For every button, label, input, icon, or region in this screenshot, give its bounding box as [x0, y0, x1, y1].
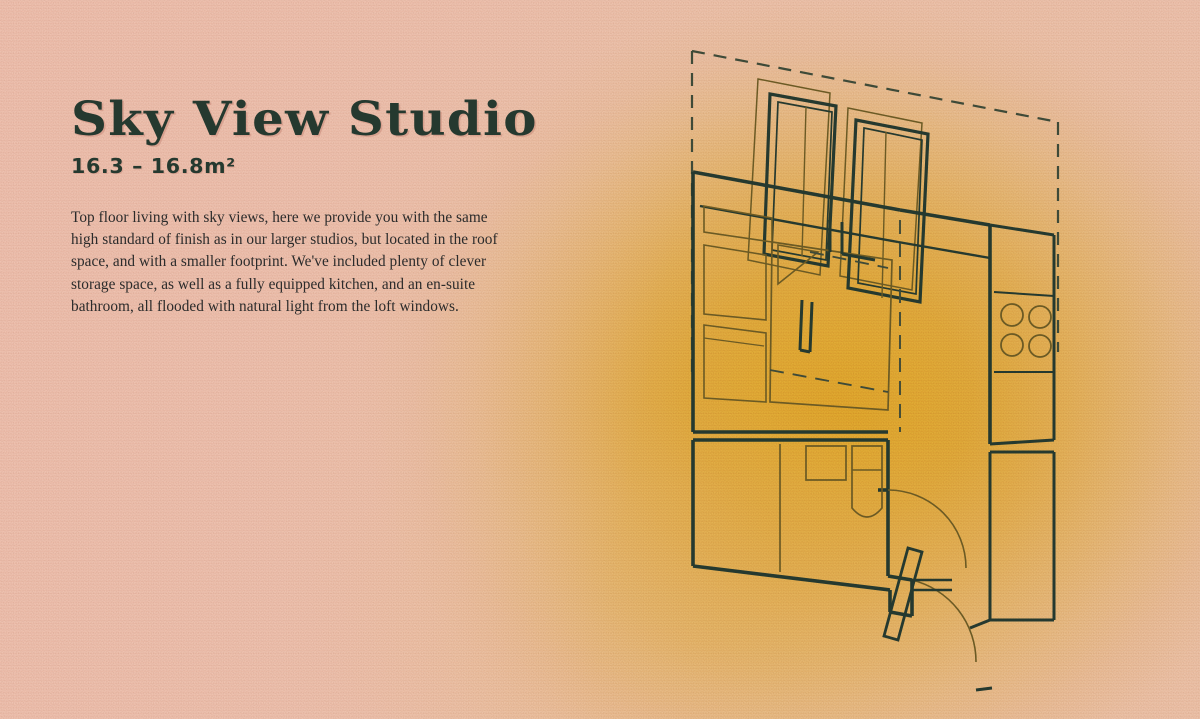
wardrobe-storage: [704, 206, 772, 242]
kitchen-run: [990, 225, 1054, 444]
studio-inner-wall-line: [700, 206, 990, 258]
loft-window-right: [840, 108, 928, 302]
kitchen-hob: [1001, 304, 1051, 357]
listing-info-panel: Sky View Studio 16.3 – 16.8m² Top floor …: [71, 96, 523, 318]
toilet: [806, 446, 882, 517]
entrance-door-swing: [912, 580, 976, 662]
listing-description: Top floor living with sky views, here we…: [71, 207, 505, 318]
floor-plan-drawing: [660, 20, 1090, 710]
bedside-unit-upper: [704, 245, 766, 320]
bed-side-fold: [810, 220, 900, 432]
studio-floor-plan: [660, 20, 1090, 710]
floor-area-label: 16.3 – 16.8m²: [71, 154, 537, 178]
scale-tick-mark: [976, 688, 992, 690]
bedside-unit-lower: [704, 325, 766, 402]
bed-duvet-fold: [770, 370, 888, 392]
loft-window-reveals: [800, 300, 812, 352]
poster-page: Sky View Studio 16.3 – 16.8m² Top floor …: [0, 0, 1200, 719]
bathroom-door-swing: [888, 490, 966, 568]
utility-run: [970, 452, 1054, 628]
bathroom: [693, 440, 912, 616]
bed: [770, 242, 892, 410]
page-title: Sky View Studio: [71, 96, 550, 145]
